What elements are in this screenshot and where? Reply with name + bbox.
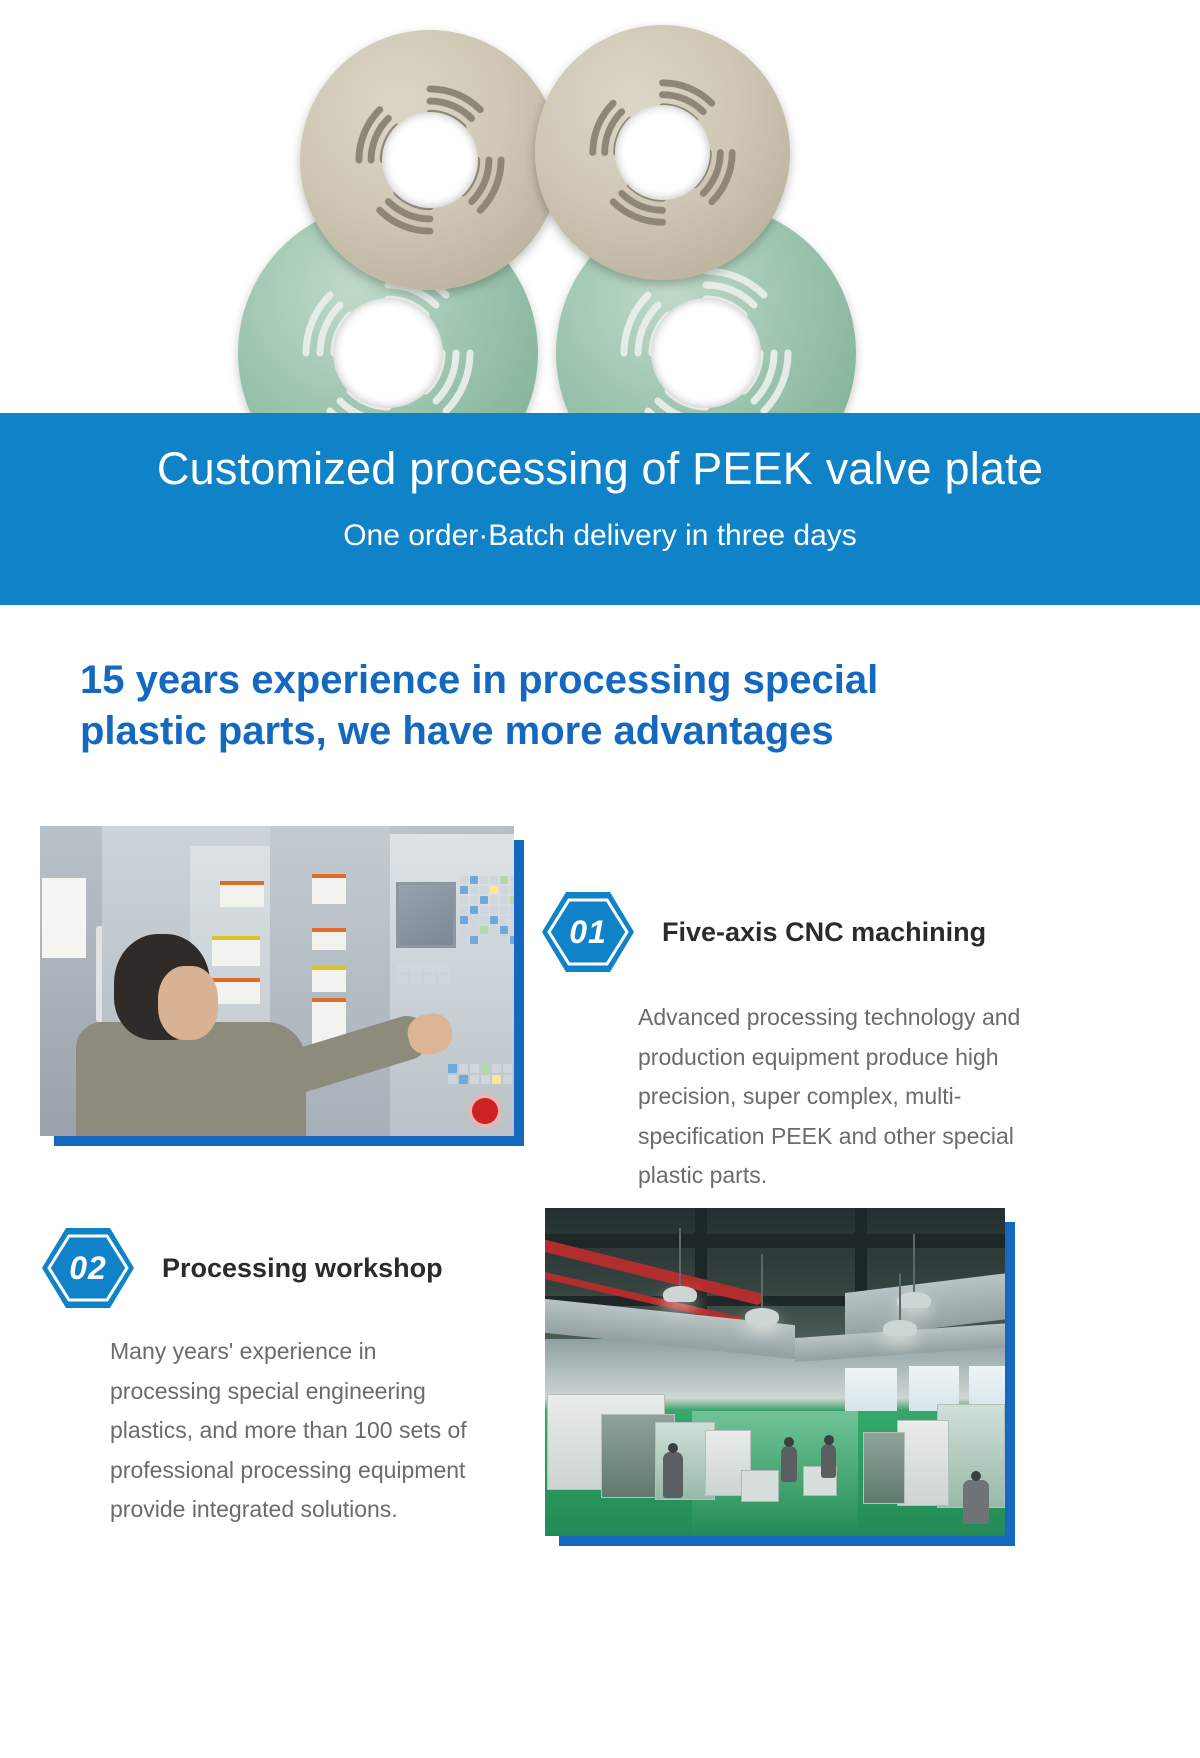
feature-02-badge: 02: [40, 1224, 136, 1312]
feature-02-body: Many years' experience in processing spe…: [40, 1332, 480, 1530]
feature-02-block: 02 Processing workshop Many years' exper…: [40, 1224, 540, 1530]
workshop-scene: [545, 1208, 1005, 1536]
banner-title: Customized processing of PEEK valve plat…: [0, 443, 1200, 495]
feature-01-body: Advanced processing technology and produ…: [540, 998, 1070, 1196]
valve-plate-tan-top-right: [535, 25, 790, 280]
workshop-photo: [545, 1208, 1015, 1546]
feature-02-title: Processing workshop: [162, 1253, 443, 1284]
cnc-machining-photo: [40, 826, 524, 1146]
headline-line-2: plastic parts, we have more advantages: [80, 706, 1090, 757]
feature-01-title: Five-axis CNC machining: [662, 917, 986, 948]
headline-line-1: 15 years experience in processing specia…: [80, 655, 1090, 706]
banner-subtitle: One order·Batch delivery in three days: [0, 519, 1200, 553]
feature-01-badge: 01: [540, 888, 636, 976]
cnc-machine-scene: [40, 826, 514, 1136]
valve-plate-tan-top-left: [300, 30, 560, 290]
feature-02-number: 02: [40, 1224, 136, 1312]
section-headline: 15 years experience in processing specia…: [80, 655, 1090, 757]
emergency-stop-icon: [472, 1098, 498, 1124]
hero-banner: Customized processing of PEEK valve plat…: [0, 413, 1200, 605]
hero-product-photo: [0, 0, 1200, 420]
feature-01-block: 01 Five-axis CNC machining Advanced proc…: [540, 888, 1070, 1196]
feature-01-number: 01: [540, 888, 636, 976]
